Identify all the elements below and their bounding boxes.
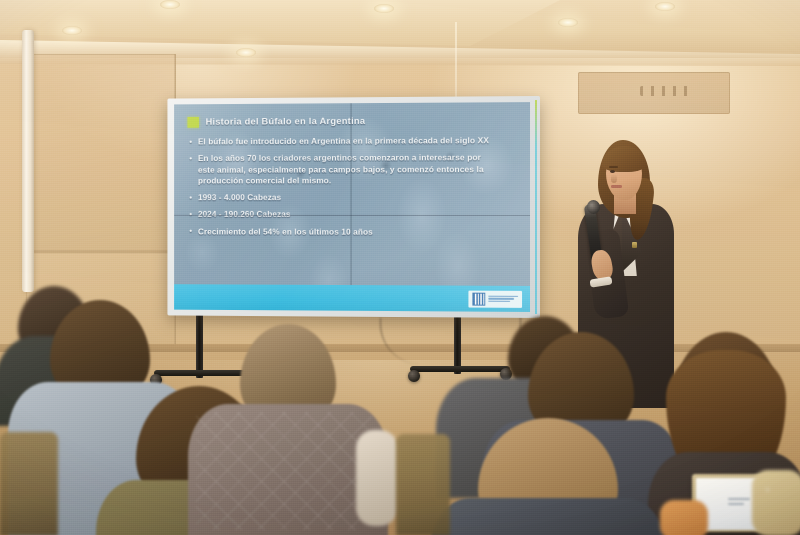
display-edge-highlight [535,100,537,314]
video-wall-display[interactable]: Historia del Búfalo en la Argentina El b… [167,96,540,318]
cart-caster-3 [408,370,420,382]
audience-body-blond-front [430,498,666,535]
slide-content: Historia del Búfalo en la Argentina El b… [174,102,530,312]
title-accent-square [187,117,198,128]
slide-bullet-1: El búfalo fue introducido en Argentina e… [189,135,500,148]
presenter-nose [611,174,617,183]
slide-bullet-2: En los años 70 los criadores argentinos … [189,152,500,187]
logo-text-lines [488,295,518,302]
ceiling-light-4 [655,2,675,11]
logo-line-1 [488,295,518,297]
slide-footer-bar [174,284,530,312]
panel-seam-vertical [350,103,351,311]
slide-bullet-list: El búfalo fue introducido en Argentina e… [187,135,516,238]
ceiling-light-1 [62,26,82,35]
presentation-photo: Historia del Búfalo en la Argentina El b… [0,0,800,535]
slide-surface: Historia del Búfalo en la Argentina El b… [174,102,530,312]
presenter-eye [610,170,615,173]
audience-knit-sleeve [752,470,800,535]
slide-bullet-5: Crecimiento del 54% en los últimos 10 añ… [189,226,500,238]
ceiling-light-6 [558,18,578,27]
logo-line-2 [488,298,514,300]
presenter-mouth [611,185,622,188]
slide-bullet-3: 1993 - 4.000 Cabezas [189,192,500,204]
display-bezel: Historia del Búfalo en la Argentina El b… [167,96,540,318]
cart-post-left [196,312,203,378]
presenter-brow [609,166,618,168]
slide-title: Historia del Búfalo en la Argentina [206,116,366,128]
panel-seam-horizontal [174,215,530,216]
logo-line-3 [488,301,510,303]
cart-foot-right [410,366,510,372]
ceiling-light-3 [374,4,394,13]
vest-quilting [196,412,372,530]
vest-shoulder-trim [356,430,398,526]
slide-title-row: Historia del Búfalo en la Argentina [187,115,516,128]
air-vent [640,86,694,96]
institution-logo [468,290,522,307]
window-blind [22,30,34,292]
wall-seam-2 [26,250,174,252]
wall-panel-left [26,54,176,254]
ceiling-light-5 [160,0,180,9]
chair-left [0,432,58,535]
tablet-content-line-1 [728,498,750,500]
audience-orange-sleeve [660,500,708,535]
logo-mark-icon [472,292,485,305]
tablet-content-line-2 [728,503,744,505]
presenter-lapel-pin [632,242,637,248]
chair-right [396,434,450,535]
ceiling-light-2 [236,48,256,57]
cart-post-right [454,312,461,374]
